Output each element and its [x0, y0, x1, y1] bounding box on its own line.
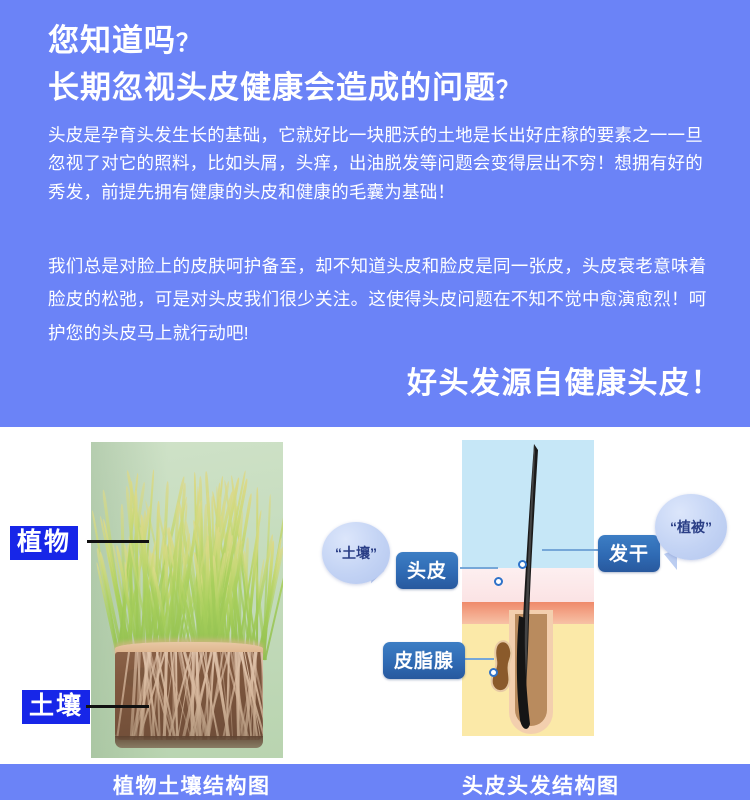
hero-paragraph-1: 头皮是孕育头发生长的基础，它就好比一块肥沃的土地是长出好庄稼的要素之一一旦忽视了… — [48, 121, 720, 206]
label-plant: 植物 — [10, 526, 78, 560]
hero-banner: 您知道吗？ 长期忽视头皮健康会造成的问题？ 头皮是孕育头发生长的基础，它就好比一… — [0, 0, 750, 427]
bubble-soil: “土壤” — [322, 522, 390, 584]
grass-canopy — [113, 468, 265, 660]
anchor-dot-gland — [489, 668, 498, 677]
leader-line-soil — [86, 705, 149, 708]
headline-secondary-text: 长期忽视头皮健康会造成的问题 — [48, 70, 496, 105]
caption-bar: 植物土壤结构图 头皮头发结构图 — [0, 764, 750, 800]
root-strand — [116, 652, 130, 739]
anchor-dot-shaft — [518, 560, 527, 569]
soil-block — [115, 652, 263, 740]
hero-paragraph-2: 我们总是对脸上的皮肤呵护备至，却不知道头皮和脸皮是同一张皮，头皮衰老意味着脸皮的… — [48, 250, 720, 350]
headline-primary-text: 您知道吗 — [48, 23, 176, 58]
plant-photo — [91, 442, 283, 758]
chip-hair-shaft: 发干 — [598, 535, 660, 572]
hair-structure-diagram — [462, 440, 594, 736]
headline-secondary: 长期忽视头皮健康会造成的问题？ — [48, 68, 720, 108]
connector-shaft — [542, 549, 600, 551]
chip-scalp: 头皮 — [396, 552, 458, 589]
anchor-dot-scalp — [494, 577, 503, 586]
diagram-panel: 植物 土壤 “土壤” 头皮 发干 皮脂腺 “植被” — [0, 427, 750, 764]
hair-shaft-icon — [462, 440, 594, 736]
label-soil: 土壤 — [22, 690, 90, 724]
caption-scalp-hair: 头皮头发结构图 — [462, 770, 620, 800]
soil-base — [115, 736, 263, 748]
chip-sebaceous-gland: 皮脂腺 — [383, 642, 465, 679]
headline-secondary-question-mark: ？ — [496, 77, 521, 104]
bubble-vegetation: “植被” — [655, 494, 727, 560]
caption-plant-soil: 植物土壤结构图 — [113, 770, 271, 800]
leader-line-plant — [87, 540, 149, 543]
connector-scalp — [460, 567, 498, 569]
hero-tagline: 好头发源自健康头皮！ — [407, 358, 722, 402]
headline-primary-question-mark: ？ — [176, 30, 201, 57]
headline-primary: 您知道吗？ — [48, 22, 720, 61]
hero-content: 您知道吗？ 长期忽视头皮健康会造成的问题？ 头皮是孕育头发生长的基础，它就好比一… — [0, 0, 750, 350]
